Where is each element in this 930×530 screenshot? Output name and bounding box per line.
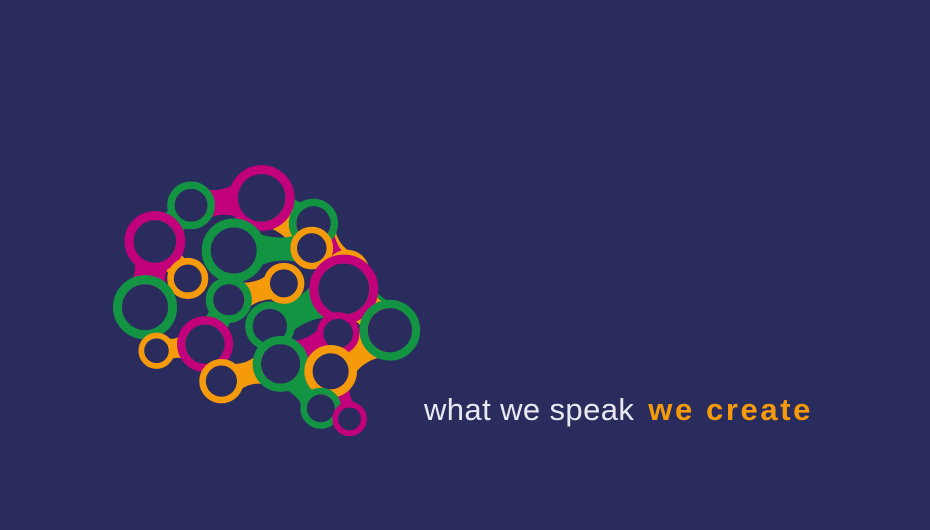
brain-node-core bbox=[313, 353, 349, 389]
brain-node-core bbox=[213, 284, 244, 315]
brain-node-core bbox=[297, 233, 327, 263]
brain-node-core bbox=[307, 394, 335, 422]
brain-node-core bbox=[175, 189, 208, 222]
brain-node-core bbox=[174, 265, 202, 293]
brain-node-core bbox=[323, 319, 353, 349]
brain-node-core bbox=[134, 220, 177, 263]
brain-node-core bbox=[238, 174, 286, 222]
brain-node-core bbox=[122, 284, 168, 330]
brain-node-core bbox=[144, 338, 169, 363]
tagline: what we speak we create bbox=[424, 388, 813, 432]
brain-node-core bbox=[206, 366, 237, 397]
slide-canvas: what we speak we create bbox=[0, 0, 930, 530]
brain-node-core bbox=[211, 228, 257, 274]
brain-node-core bbox=[270, 269, 298, 297]
brain-node-core bbox=[338, 407, 361, 430]
brain-node-core bbox=[261, 344, 300, 383]
brain-network-logo bbox=[56, 92, 446, 437]
brain-node-core bbox=[368, 308, 412, 352]
tagline-accent-text: we create bbox=[648, 392, 813, 428]
brain-node-core bbox=[185, 324, 224, 363]
brain-network-svg bbox=[56, 92, 446, 437]
tagline-light-text: what we speak bbox=[424, 392, 634, 428]
node-layer bbox=[118, 170, 417, 434]
brain-node-core bbox=[318, 264, 369, 315]
